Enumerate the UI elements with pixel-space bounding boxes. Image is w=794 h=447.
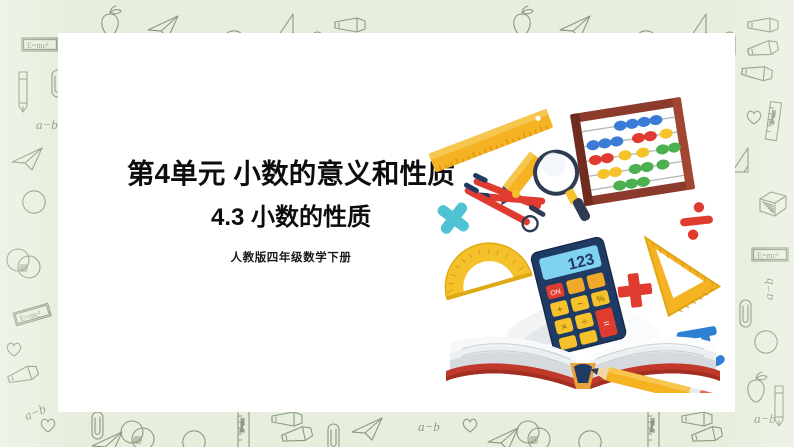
slide-card: 第4单元 小数的意义和性质 4.3 小数的性质 人教版四年级数学下册 — [58, 33, 735, 412]
protractor-icon — [435, 233, 532, 301]
abacus-icon — [570, 97, 695, 206]
set-square-icon — [635, 238, 725, 322]
plus-sign-icon — [616, 271, 654, 309]
multiply-sign-icon — [435, 199, 473, 237]
compass-icon — [459, 166, 545, 232]
slide-stage: E=mc² — [0, 0, 794, 447]
math-supplies-illustration: 123 ON + − % × ÷ — [428, 93, 738, 393]
divide-sign-icon — [676, 199, 717, 244]
